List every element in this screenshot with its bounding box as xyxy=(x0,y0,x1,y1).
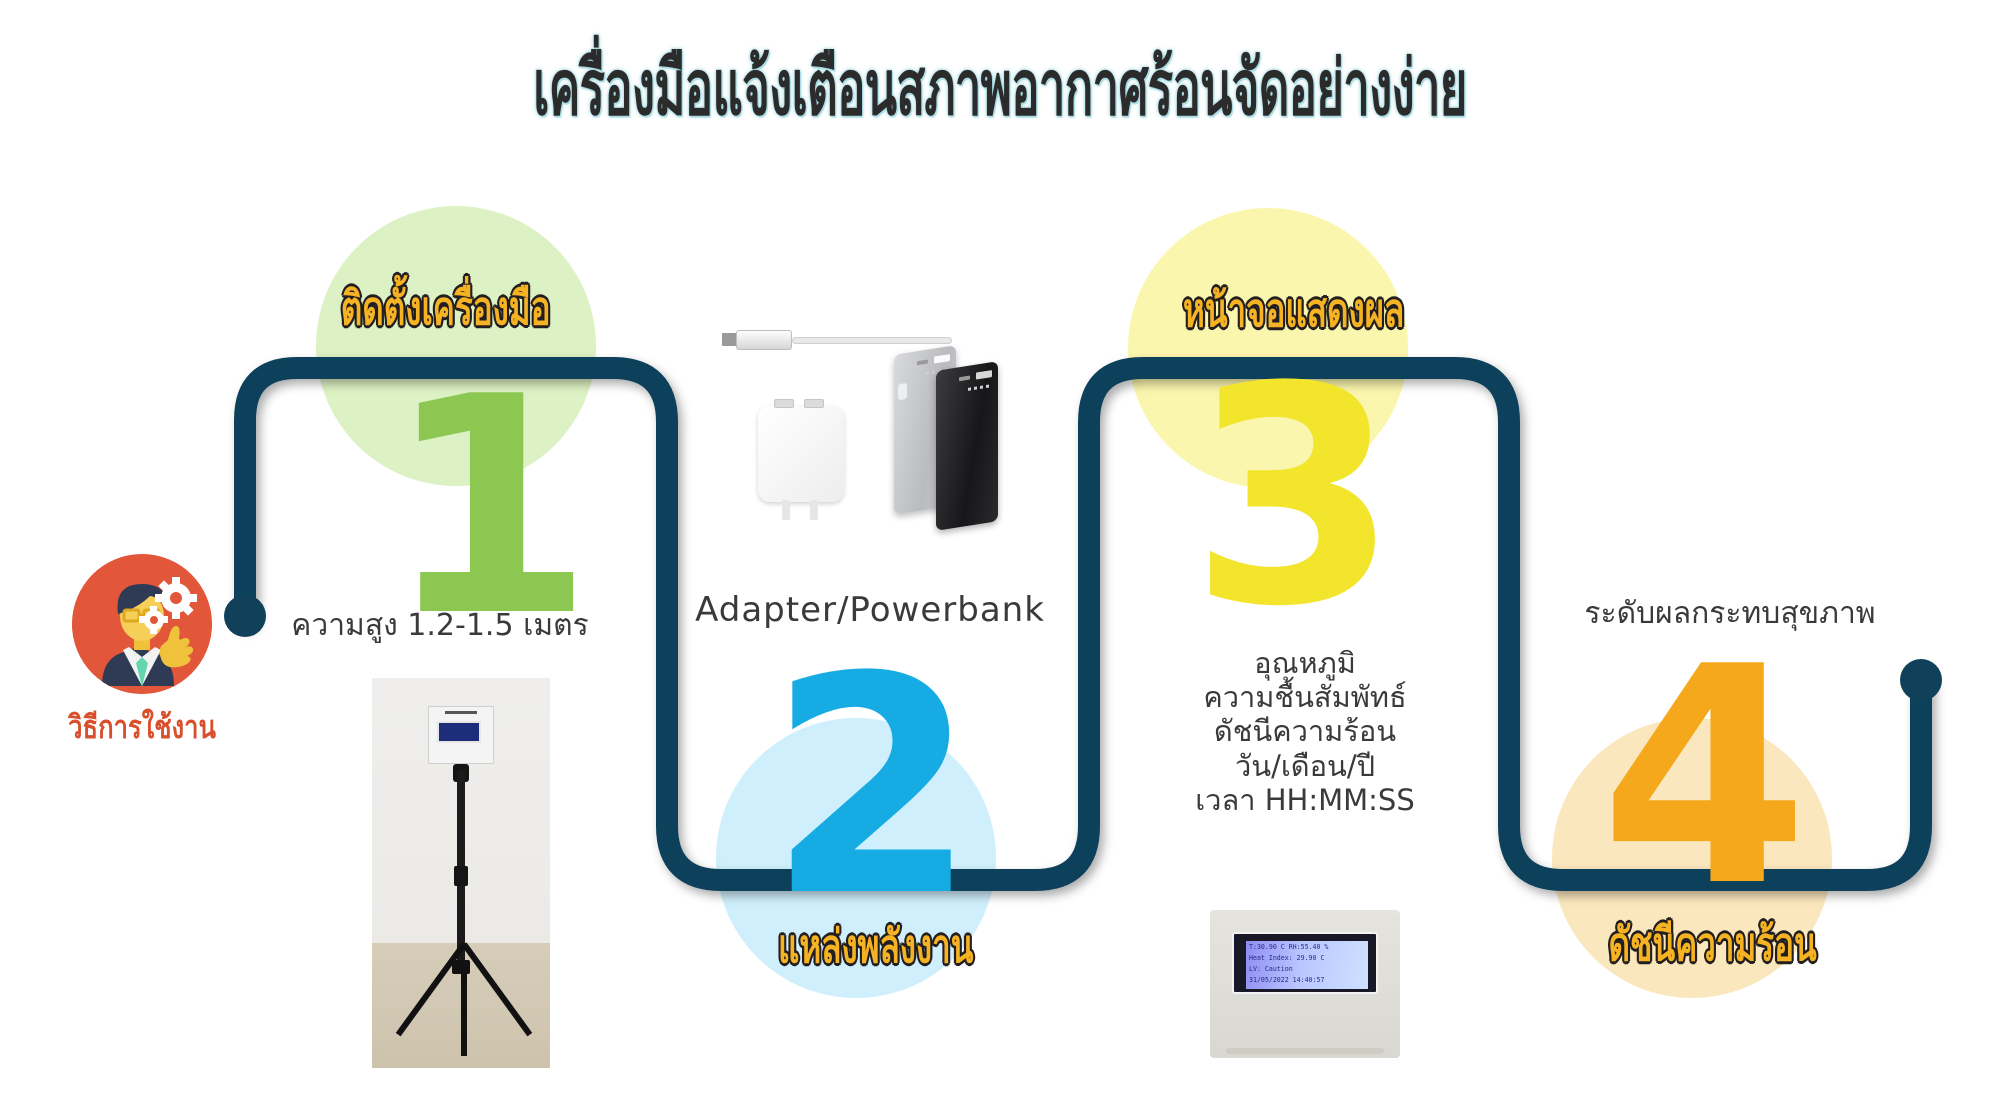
adapter-powerbank-usb-photo xyxy=(690,318,1050,568)
step-2-number: 2 xyxy=(768,638,977,938)
step-3-caption: อุณหภูมิ ความชื้นสัมพัทธ์ ดัชนีความร้อน … xyxy=(1140,646,1470,817)
step-1-caption: ความสูง 1.2-1.5 เมตร xyxy=(240,608,640,643)
wall-adapter-icon xyxy=(758,406,844,502)
tripod-with-device-photo xyxy=(372,678,550,1068)
lcd-readout: T:30.90 C RH:55.40 % Heat Index: 29.90 C… xyxy=(1246,941,1368,989)
lcd-display-device-photo: T:30.90 C RH:55.40 % Heat Index: 29.90 C… xyxy=(1210,910,1400,1058)
step-3-number: 3 xyxy=(1190,348,1399,648)
step-4-number: 4 xyxy=(1600,628,1809,928)
lcd-line-2: Heat Index: 29.90 C xyxy=(1249,953,1365,964)
powerbank-black-icon xyxy=(936,361,998,531)
person-with-gears-icon xyxy=(72,554,212,694)
how-to-use-badge: วิธีการใช้งาน xyxy=(42,554,242,753)
lcd-line-1: T:30.90 C RH:55.40 % xyxy=(1249,942,1365,953)
infographic-page: เครื่องมือแจ้งเตือนสภาพอากาศร้อนจัดอย่าง… xyxy=(0,0,2000,1111)
usb-cable-icon xyxy=(736,326,954,352)
lcd-line-4: 31/05/2022 14:40:57 xyxy=(1249,975,1365,986)
how-to-use-label: วิธีการใช้งาน xyxy=(62,702,222,753)
step-2-caption: Adapter/Powerbank xyxy=(660,590,1080,630)
page-title: เครื่องมือแจ้งเตือนสภาพอากาศร้อนจัดอย่าง… xyxy=(380,28,1620,148)
lcd-line-3: LV: Caution xyxy=(1249,964,1365,975)
step-4-caption: ระดับผลกระทบสุขภาพ xyxy=(1520,596,1940,631)
